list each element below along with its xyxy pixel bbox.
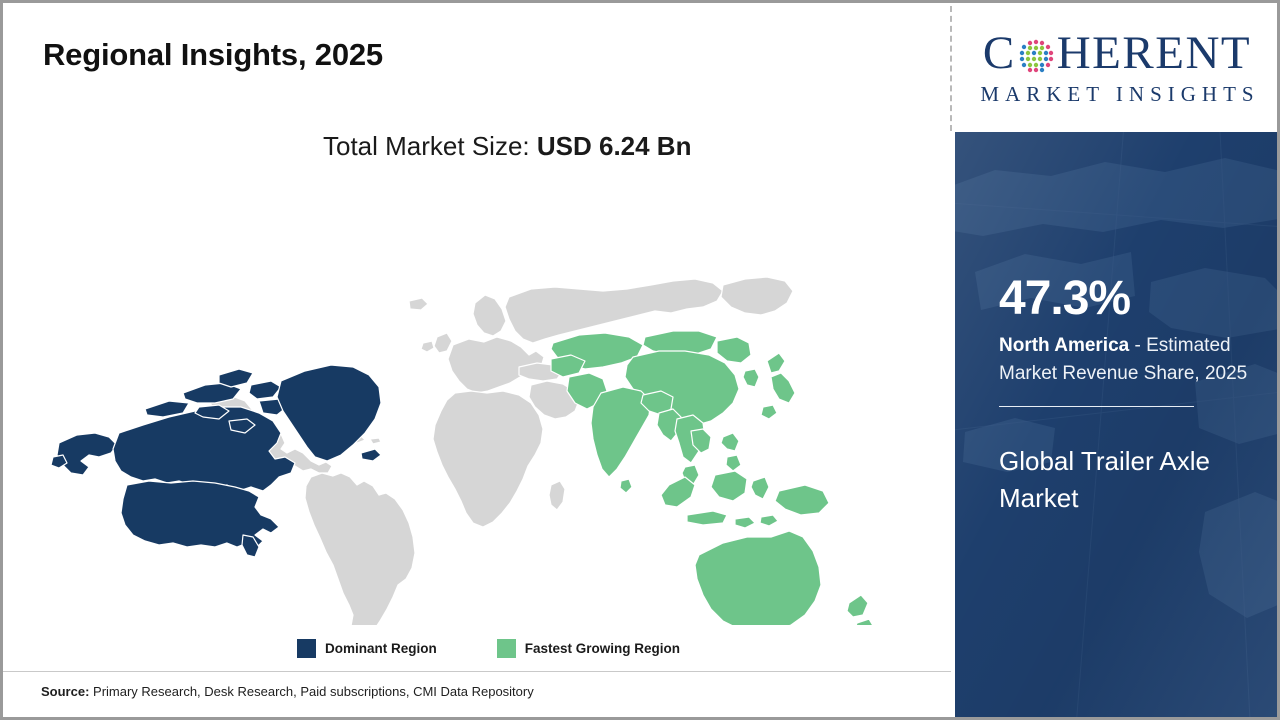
legend-swatch-dominant-icon (297, 639, 316, 658)
legend-label-dominant: Dominant Region (325, 641, 437, 656)
market-size-label: Total Market Size: (323, 131, 537, 161)
panel-divider (950, 6, 952, 131)
logo-wordmark: C (983, 30, 1251, 77)
page-title: Regional Insights, 2025 (43, 37, 383, 73)
dotted-globe-icon (1016, 36, 1056, 76)
stat-region: North America (999, 335, 1129, 356)
map-legend: Dominant Region Fastest Growing Region (297, 639, 680, 658)
source-label: Source: (41, 684, 89, 699)
logo-letter-c: C (983, 30, 1016, 77)
market-size-value: USD 6.24 Bn (537, 131, 692, 161)
map-fastest-growing-regions (551, 331, 875, 625)
source-text: Source: Primary Research, Desk Research,… (41, 684, 534, 699)
stats-panel: 47.3% North America - Estimated Market R… (955, 132, 1279, 720)
company-logo: C (955, 7, 1279, 129)
logo-wordmark-text: HERENT (1057, 30, 1251, 77)
legend-item-fastest-growing: Fastest Growing Region (497, 639, 680, 658)
total-market-size: Total Market Size: USD 6.24 Bn (323, 131, 691, 162)
panel-divider-rule (999, 406, 1194, 407)
legend-label-fastest-growing: Fastest Growing Region (525, 641, 680, 656)
stat-description: North America - Estimated Market Revenue… (999, 332, 1259, 387)
source-value: Primary Research, Desk Research, Paid su… (89, 684, 533, 699)
left-panel: Regional Insights, 2025 Total Market Siz… (3, 3, 951, 717)
legend-swatch-fastest-growing-icon (497, 639, 516, 658)
regional-insights-infographic: Regional Insights, 2025 Total Market Siz… (0, 0, 1280, 720)
source-bar: Source: Primary Research, Desk Research,… (3, 671, 951, 717)
legend-item-dominant: Dominant Region (297, 639, 437, 658)
logo-subtitle: MARKET INSIGHTS (974, 82, 1259, 107)
world-map-svg (23, 185, 923, 625)
panel-content: 47.3% North America - Estimated Market R… (999, 275, 1259, 517)
world-map (23, 185, 923, 625)
stat-value: 47.3% (999, 275, 1259, 323)
market-name: Global Trailer Axle Market (999, 443, 1259, 517)
